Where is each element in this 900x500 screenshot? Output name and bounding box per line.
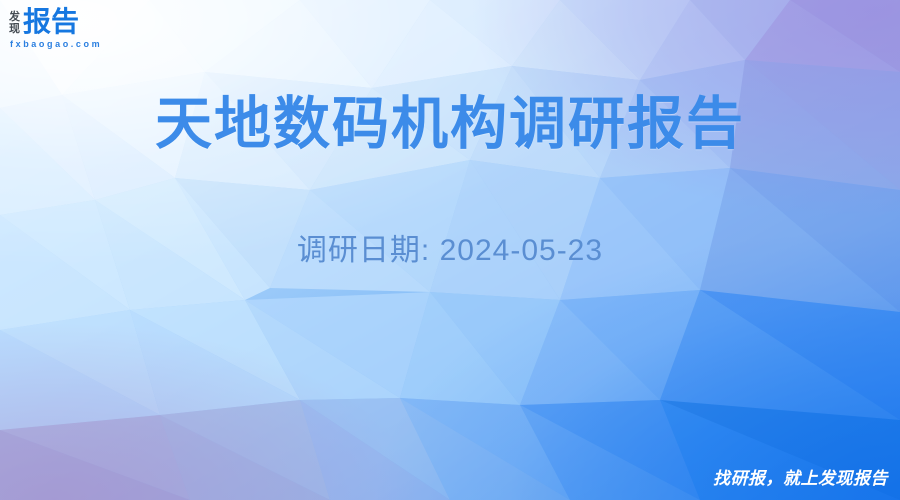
footer-tagline: 找研报，就上发现报告 — [713, 468, 888, 490]
logo-lockup: 发 现 报告 — [9, 8, 79, 36]
logo-char-xian: 现 — [9, 23, 20, 35]
brand-logo[interactable]: 发 现 报告 fxbaogao.com — [9, 8, 102, 49]
logo-domain-text: fxbaogao.com — [10, 39, 102, 49]
logo-char-fa: 发 — [9, 11, 20, 23]
cover-subtitle-date: 调研日期: 2024-05-23 — [0, 230, 900, 272]
logo-stacked-chars: 发 现 — [9, 11, 20, 36]
logo-wordmark: 报告 — [23, 8, 79, 36]
report-cover: 发 现 报告 fxbaogao.com 天地数码机构调研报告 调研日期: 202… — [0, 0, 900, 500]
cover-title: 天地数码机构调研报告 — [0, 88, 900, 160]
